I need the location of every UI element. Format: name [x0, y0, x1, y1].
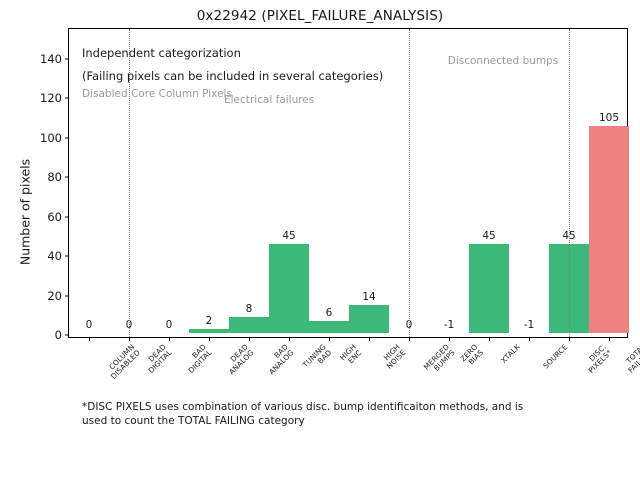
bar-value-label: 0 [86, 319, 93, 331]
bar [229, 317, 269, 333]
bar-value-label: 14 [362, 291, 375, 303]
x-tick-label: HIGHNOISE [380, 343, 408, 371]
x-tick-label: DEADDIGITAL [142, 343, 174, 375]
footnote: *DISC PIXELS uses combination of various… [82, 400, 602, 429]
bar-value-label: 6 [326, 307, 333, 319]
bar-value-label: 105 [599, 112, 619, 124]
y-tick-mark [65, 58, 69, 59]
y-tick-mark [65, 177, 69, 178]
x-tick-label: COLUMNDISABLED [104, 343, 142, 381]
bar [269, 244, 309, 333]
bar-value-label: 45 [282, 230, 295, 242]
x-tick-mark [89, 337, 90, 341]
x-tick-mark [449, 337, 450, 341]
bar [189, 329, 229, 333]
annotation-headline: Independent categorization [82, 46, 241, 60]
x-tick-label: DEADANALOG [222, 343, 256, 377]
x-tick-mark [249, 337, 250, 341]
chart-figure: 0x22942 (PIXEL_FAILURE_ANALYSIS) Number … [0, 0, 640, 480]
y-tick-mark [65, 295, 69, 296]
x-tick-mark [409, 337, 410, 341]
bar [589, 126, 629, 333]
annotation-group-disconnected-line2: bumps [523, 55, 559, 67]
annotation-group-disabled-core-line1: Disabled Core [82, 88, 155, 100]
x-tick-label: BADDIGITAL [182, 343, 214, 375]
annotation-group-disconnected: Disconnected bumps [448, 55, 559, 68]
x-tick-mark [569, 337, 570, 341]
x-tick-mark [369, 337, 370, 341]
annotation-group-disconnected-line1: Disconnected [448, 55, 519, 67]
footnote-line-2: used to count the TOTAL FAILING category [82, 414, 602, 428]
annotation-group-disabled-core-line2: Column Pixels [159, 88, 232, 100]
bar-value-label: 0 [166, 319, 173, 331]
x-tick-label: DISC.PIXELS* [582, 343, 614, 375]
x-tick-label: TOTALFAILING [621, 343, 640, 375]
bar-value-label: 45 [482, 230, 495, 242]
bar-value-label: 8 [246, 303, 253, 315]
bar [309, 321, 349, 333]
y-tick-mark [65, 98, 69, 99]
annotation-group-electrical: Electrical failures [224, 94, 314, 107]
y-tick-mark [65, 335, 69, 336]
y-tick-mark [65, 216, 69, 217]
x-tick-label: SOURCE [542, 343, 570, 371]
y-tick-mark [65, 256, 69, 257]
bar [469, 244, 509, 333]
x-tick-mark [289, 337, 290, 341]
x-tick-mark [129, 337, 130, 341]
x-tick-mark [329, 337, 330, 341]
annotation-group-disabled-core: Disabled Core Column Pixels [82, 88, 232, 101]
x-tick-mark [489, 337, 490, 341]
x-tick-label: XTALK [500, 343, 522, 365]
footnote-line-1: *DISC PIXELS uses combination of various… [82, 400, 602, 414]
x-tick-label-line1: XTALK [500, 343, 522, 365]
x-tick-label-line1: SOURCE [542, 343, 570, 371]
category-group-separator [569, 29, 570, 337]
x-tick-mark [209, 337, 210, 341]
x-tick-mark [529, 337, 530, 341]
x-tick-mark [169, 337, 170, 341]
x-tick-label: HIGHENC [339, 343, 364, 368]
x-tick-label: MERGEDBUMPS [423, 343, 458, 378]
plot-frame: Number of pixels 0204060801001201400COLU… [68, 28, 628, 338]
x-tick-label: TUNINGBAD [302, 343, 334, 375]
x-tick-label: BADANALOG [262, 343, 296, 377]
bar-value-label: 2 [206, 315, 213, 327]
bar [349, 305, 389, 333]
category-group-separator [409, 29, 410, 337]
x-tick-label: ZEROBIAS [459, 343, 485, 369]
y-tick-mark [65, 137, 69, 138]
x-tick-mark [609, 337, 610, 341]
bar-value-label: -1 [524, 319, 534, 331]
y-axis-label: Number of pixels [18, 159, 33, 265]
chart-title: 0x22942 (PIXEL_FAILURE_ANALYSIS) [0, 8, 640, 24]
annotation-subhead: (Failing pixels can be included in sever… [82, 69, 383, 83]
bar-value-label: -1 [444, 319, 454, 331]
